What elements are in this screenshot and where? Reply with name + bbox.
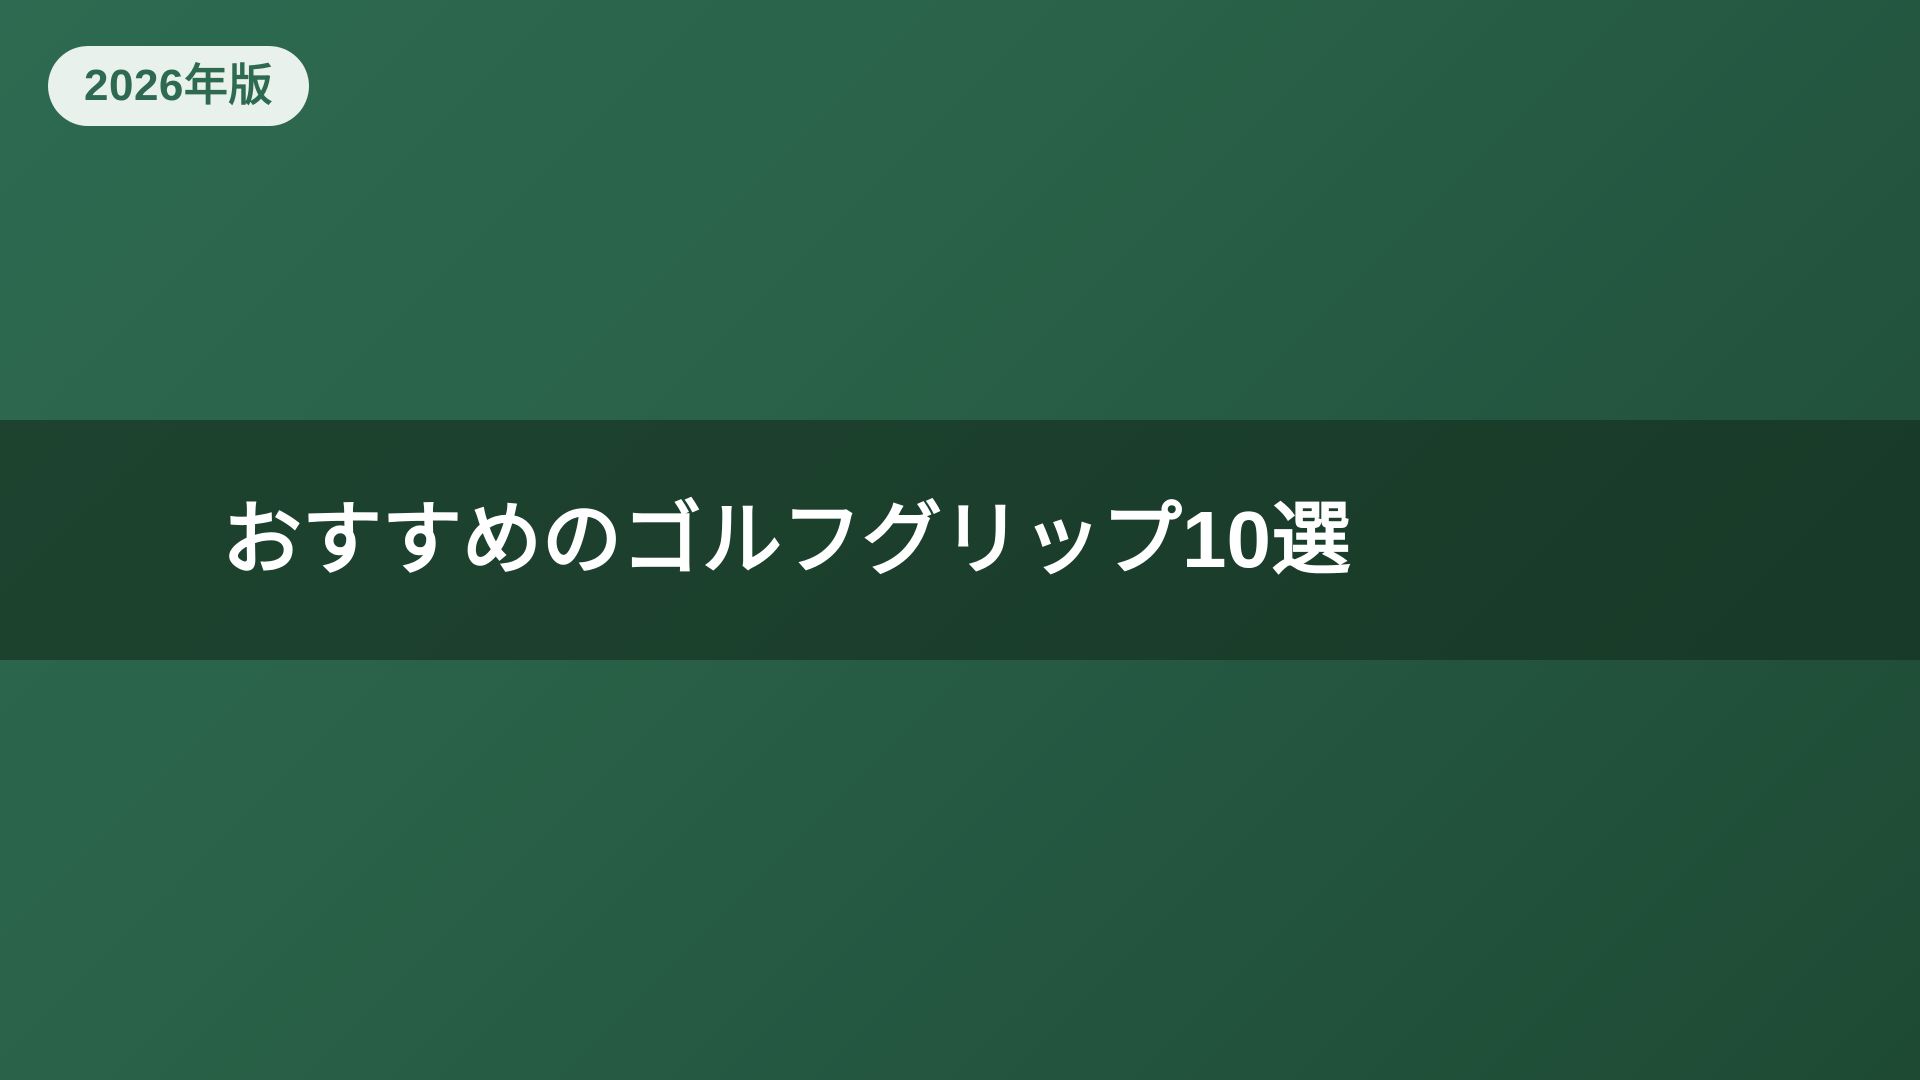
year-badge-label: 2026年版 bbox=[84, 64, 273, 108]
page-title: おすすめのゴルフグリップ10選 bbox=[222, 494, 1351, 586]
year-badge: 2026年版 bbox=[48, 46, 309, 126]
thumbnail-canvas: 2026年版 おすすめのゴルフグリップ10選 bbox=[0, 0, 1920, 1080]
title-band: おすすめのゴルフグリップ10選 bbox=[0, 420, 1920, 660]
